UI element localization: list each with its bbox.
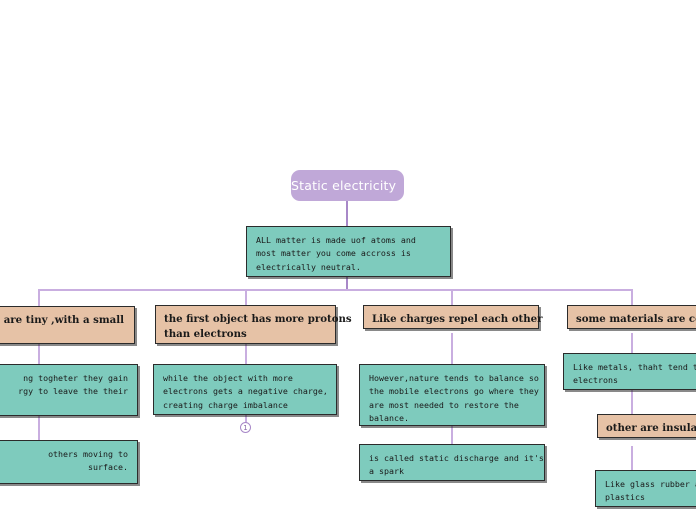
branch-3-header-label: Like charges repel each other xyxy=(372,312,530,327)
connector-bus-drop-2 xyxy=(245,289,247,305)
connector-b1-c2 xyxy=(38,416,40,440)
connector-root-to-intro xyxy=(346,200,348,226)
connector-b4-c3 xyxy=(631,446,633,470)
branch-4-header-label: some materials are con xyxy=(576,312,696,327)
connector-bus-drop-4 xyxy=(631,289,633,305)
connector-b4-c2 xyxy=(631,390,633,414)
branch-2-header[interactable]: the first object has more protons than e… xyxy=(155,305,336,344)
connector-b3-c2 xyxy=(451,426,453,444)
intro-node-text: ALL matter is made uof atoms and most ma… xyxy=(256,234,441,274)
branch-2-child-1-text: while the object with more electrons get… xyxy=(163,372,327,412)
branch-2-child-1[interactable]: while the object with more electrons get… xyxy=(153,364,337,415)
branch-4-child-3[interactable]: Like glass rubber a plastics xyxy=(595,470,696,507)
connector-bus-drop-3 xyxy=(451,289,453,305)
connector-bus-drop-1 xyxy=(38,289,40,307)
connector-b2-c1 xyxy=(245,344,247,364)
branch-2-collapse-badge[interactable]: 1 xyxy=(240,422,251,433)
branch-1-header-label: are tiny ,with a small xyxy=(0,313,126,328)
branch-4-child-2[interactable]: other are insulato xyxy=(597,414,696,438)
branch-1-child-1[interactable]: ng togheter they gain rgy to leave the t… xyxy=(0,364,138,416)
branch-1-header[interactable]: are tiny ,with a small xyxy=(0,306,135,344)
intro-node[interactable]: ALL matter is made uof atoms and most ma… xyxy=(246,226,451,277)
branch-4-child-2-text: other are insulato xyxy=(606,421,696,436)
branch-1-child-2-text: others moving to surface. xyxy=(0,448,128,475)
connector-intro-to-bus xyxy=(346,276,348,290)
branch-1-child-1-text: ng togheter they gain rgy to leave the t… xyxy=(0,372,128,399)
branch-3-child-1[interactable]: However,nature tends to balance so the m… xyxy=(359,364,545,426)
connector-bus-horizontal xyxy=(38,289,632,291)
connector-b3-c1 xyxy=(451,333,453,364)
connector-b4-c1 xyxy=(631,333,633,353)
branch-3-header[interactable]: Like charges repel each other xyxy=(363,305,539,329)
branch-3-child-2-text: is called static discharge and it's a sp… xyxy=(369,452,535,479)
branch-3-child-1-text: However,nature tends to balance so the m… xyxy=(369,372,535,426)
branch-4-child-1-text: Like metals, thaht tend t electrons xyxy=(573,361,696,388)
branch-4-header[interactable]: some materials are con xyxy=(567,305,696,329)
root-node-label: Static electricity xyxy=(291,178,404,193)
mindmap-canvas: Static electricity ALL matter is made uo… xyxy=(0,0,696,520)
connector-b1-c1 xyxy=(38,344,40,364)
branch-4-child-1[interactable]: Like metals, thaht tend t electrons xyxy=(563,353,696,390)
root-node[interactable]: Static electricity xyxy=(291,170,404,201)
branch-2-header-label: the first object has more protons than e… xyxy=(164,312,327,342)
branch-3-child-2[interactable]: is called static discharge and it's a sp… xyxy=(359,444,545,481)
branch-4-child-3-text: Like glass rubber a plastics xyxy=(605,478,696,505)
branch-1-child-2[interactable]: others moving to surface. xyxy=(0,440,138,484)
